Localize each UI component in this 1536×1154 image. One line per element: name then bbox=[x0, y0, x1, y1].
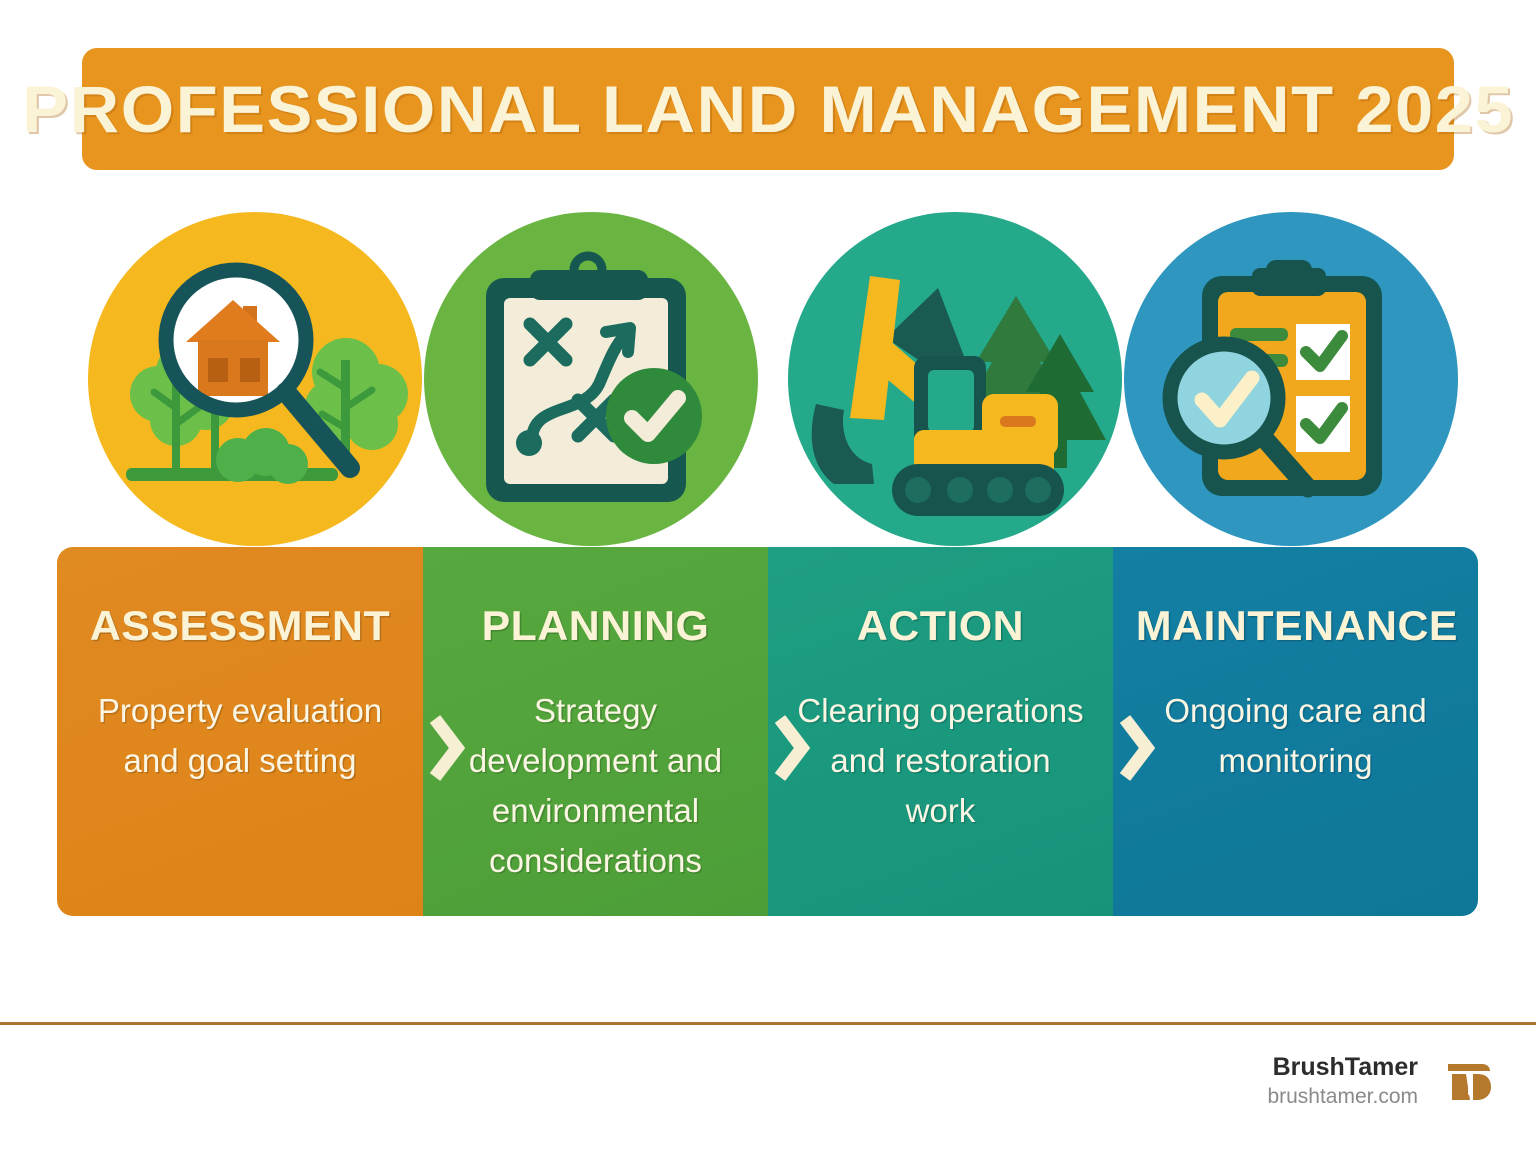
step-title: MAINTENANCE bbox=[1136, 602, 1455, 650]
step-description: Property evaluation and goal setting bbox=[83, 686, 397, 786]
step-description: Strategy development and environmental c… bbox=[449, 686, 742, 887]
step-title: PLANNING bbox=[446, 602, 745, 650]
checklist-magnifier-icon bbox=[1124, 212, 1458, 546]
step-panel-maintenance[interactable]: MAINTENANCE Ongoing care and monitoring bbox=[1113, 547, 1478, 916]
brand-name: BrushTamer bbox=[1267, 1052, 1418, 1083]
footer: BrushTamer brushtamer.com bbox=[1267, 1052, 1494, 1111]
step-icon-circle-maintenance bbox=[1124, 212, 1458, 546]
step-description: Clearing operations and restoration work bbox=[794, 686, 1087, 836]
step-panel-planning[interactable]: PLANNING Strategy development and enviro… bbox=[423, 547, 768, 916]
brand-url: brushtamer.com bbox=[1267, 1083, 1418, 1110]
step-title: ASSESSMENT bbox=[80, 602, 400, 650]
step-panel-assessment[interactable]: ASSESSMENT Property evaluation and goal … bbox=[57, 547, 423, 916]
brand-block: BrushTamer brushtamer.com bbox=[1267, 1052, 1418, 1111]
brushtamer-monogram-logo bbox=[1440, 1054, 1494, 1108]
process-steps: ASSESSMENT Property evaluation and goal … bbox=[57, 547, 1478, 916]
page-title: PROFESSIONAL LAND MANAGEMENT 2025 bbox=[22, 71, 1514, 147]
footer-divider bbox=[0, 1022, 1536, 1025]
magnifier-house-trees-icon bbox=[88, 212, 422, 546]
step-icon-circle-action bbox=[788, 212, 1122, 546]
step-icon-circle-planning bbox=[424, 212, 758, 546]
step-panel-action[interactable]: ACTION Clearing operations and restorati… bbox=[768, 547, 1113, 916]
infographic-canvas: PROFESSIONAL LAND MANAGEMENT 2025 bbox=[0, 0, 1536, 1154]
step-icon-circle-assessment bbox=[88, 212, 422, 546]
excavator-trees-icon bbox=[788, 212, 1122, 546]
step-title: ACTION bbox=[791, 602, 1090, 650]
step-description: Ongoing care and monitoring bbox=[1139, 686, 1452, 786]
clipboard-strategy-check-icon bbox=[424, 212, 758, 546]
title-bar: PROFESSIONAL LAND MANAGEMENT 2025 bbox=[82, 48, 1454, 170]
